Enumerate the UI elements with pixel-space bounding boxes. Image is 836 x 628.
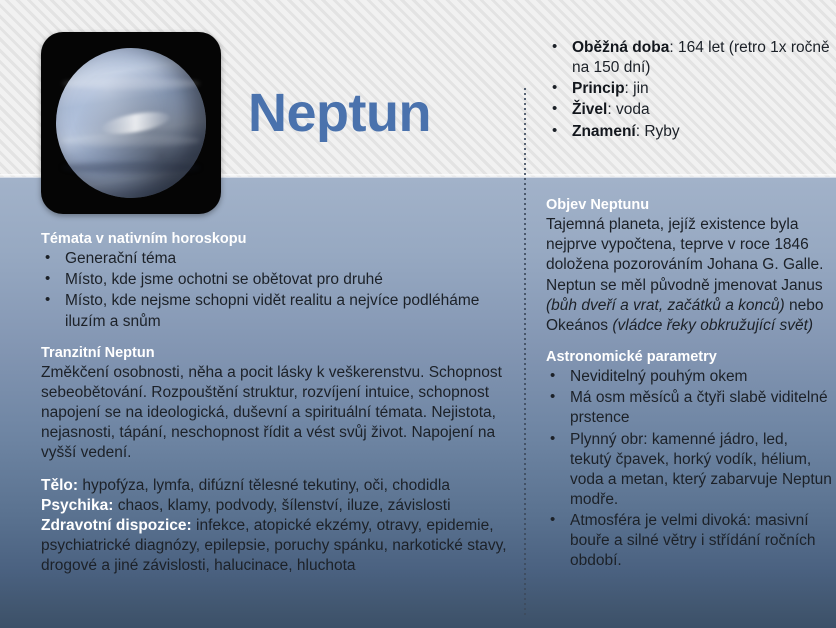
planet-band-top xyxy=(62,78,200,89)
health-disposition-label: Zdravotní dispozice: xyxy=(41,517,192,534)
list-item: Princip: jin xyxy=(548,79,830,99)
list-item: Místo, kde nejsme schopni vidět realitu … xyxy=(41,291,519,331)
list-item: Atmosféra je velmi divoká: masivní bouře… xyxy=(546,511,832,571)
native-bullet-list: Generační téma Místo, kde jsme ochotni s… xyxy=(41,249,519,332)
fact-sep: : xyxy=(625,80,634,97)
slide-neptun: Neptun Oběžná doba: 164 let (retro 1x ro… xyxy=(0,0,836,628)
list-item: Oběžná doba: 164 let (retro 1x ročně na … xyxy=(548,38,830,78)
native-horoscope-block: Témata v nativním horoskopu Generační té… xyxy=(41,230,519,332)
discovery-block: Objev Neptunu Tajemná planeta, jejíž exi… xyxy=(546,196,832,336)
health-body-value: hypofýza, lymfa, difúzní tělesné tekutin… xyxy=(78,477,450,494)
list-item: Neviditelný pouhým okem xyxy=(546,367,832,387)
transit-paragraph: Změkčení osobnosti, něha a pocit lásky k… xyxy=(41,363,519,464)
quick-facts-list: Oběžná doba: 164 let (retro 1x ročně na … xyxy=(548,38,830,143)
left-column: Témata v nativním horoskopu Generační té… xyxy=(41,230,519,576)
health-psyche-label: Psychika: xyxy=(41,497,113,514)
astronomy-bullet-list: Neviditelný pouhým okem Má osm měsíců a … xyxy=(546,367,832,571)
column-divider xyxy=(524,88,526,616)
fact-value: jin xyxy=(633,80,649,97)
fact-sep: : xyxy=(607,101,616,118)
section-heading-transit: Tranzitní Neptun xyxy=(41,344,519,362)
fact-value: Ryby xyxy=(644,123,679,140)
fact-value: voda xyxy=(616,101,650,118)
list-item: Znamení: Ryby xyxy=(548,122,830,142)
list-item: Místo, kde jsme ochotni se obětovat pro … xyxy=(41,270,519,290)
fact-label: Znamení xyxy=(572,123,636,140)
section-heading-discovery: Objev Neptunu xyxy=(546,196,832,214)
discovery-italic-2: (vládce řeky obkružující svět) xyxy=(612,317,813,334)
neptune-photo xyxy=(41,32,221,214)
health-body-line: Tělo: hypofýza, lymfa, difúzní tělesné t… xyxy=(41,476,519,496)
right-column: Objev Neptunu Tajemná planeta, jejíž exi… xyxy=(546,196,832,573)
health-disposition-line: Zdravotní dispozice: infekce, atopické e… xyxy=(41,516,519,576)
discovery-text-1: Tajemná planeta, jejíž existence byla ne… xyxy=(546,216,823,293)
fact-sep: : xyxy=(669,39,678,56)
list-item: Generační téma xyxy=(41,249,519,269)
discovery-paragraph: Tajemná planeta, jejíž existence byla ne… xyxy=(546,215,832,336)
planet-band-mid xyxy=(62,135,200,146)
fact-label: Oběžná doba xyxy=(572,39,669,56)
list-item: Živel: voda xyxy=(548,100,830,120)
list-item: Má osm měsíců a čtyři slabě viditelné pr… xyxy=(546,388,832,428)
health-psyche-line: Psychika: chaos, klamy, podvody, šílenst… xyxy=(41,496,519,516)
planet-great-spot xyxy=(100,108,171,138)
page-title: Neptun xyxy=(248,86,431,140)
section-heading-astronomy: Astronomické parametry xyxy=(546,348,832,366)
health-block: Tělo: hypofýza, lymfa, difúzní tělesné t… xyxy=(41,476,519,577)
health-body-label: Tělo: xyxy=(41,477,78,494)
fact-label: Živel xyxy=(572,101,607,118)
list-item: Plynný obr: kamenné jádro, led, tekutý č… xyxy=(546,430,832,511)
section-heading-native: Témata v nativním horoskopu xyxy=(41,230,519,248)
planet-band-low xyxy=(62,162,200,173)
discovery-italic-1: (bůh dveří a vrat, začátků a konců) xyxy=(546,297,785,314)
health-psyche-value: chaos, klamy, podvody, šílenství, iluze,… xyxy=(113,497,450,514)
planet-sphere xyxy=(56,48,206,198)
astronomy-block: Astronomické parametry Neviditelný pouhý… xyxy=(546,348,832,572)
transit-block: Tranzitní Neptun Změkčení osobnosti, něh… xyxy=(41,344,519,464)
fact-label: Princip xyxy=(572,80,625,97)
